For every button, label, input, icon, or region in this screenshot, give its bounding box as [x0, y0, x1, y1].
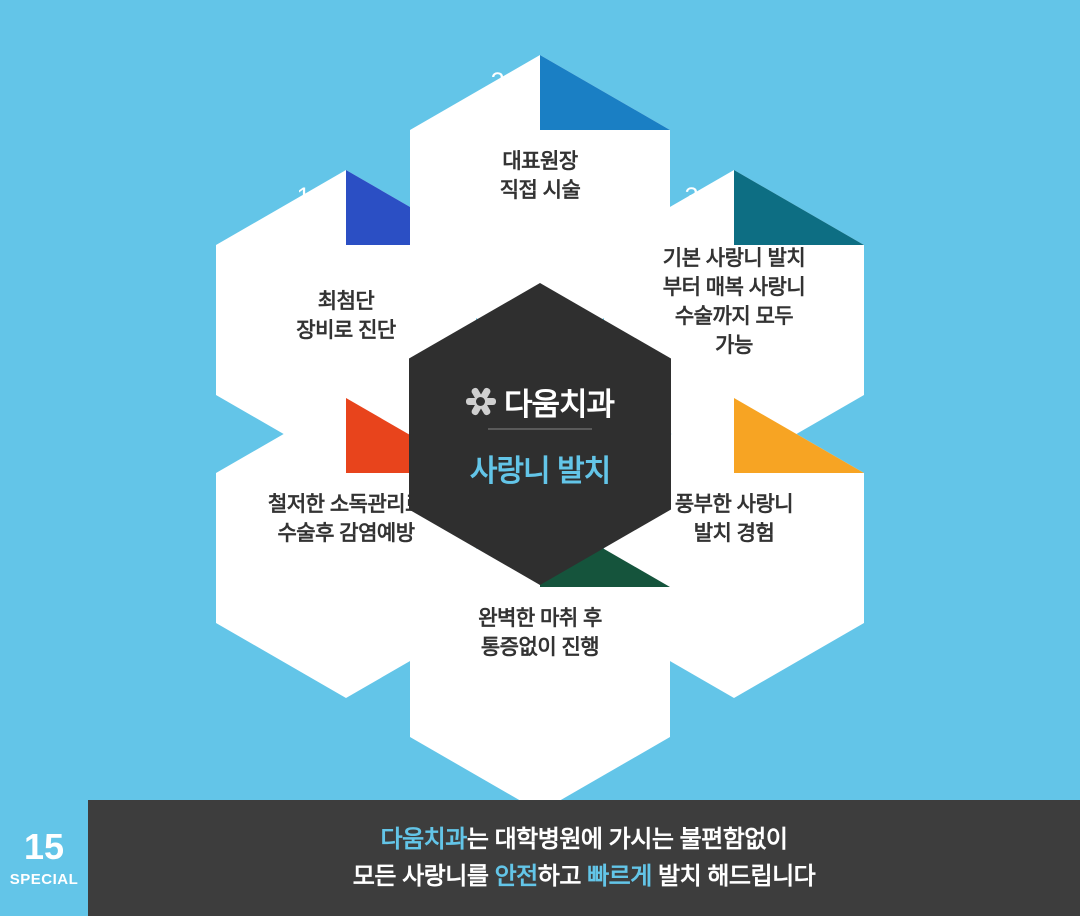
daum-asterisk-logo-icon: [466, 387, 496, 417]
hexagon-2-number: 2: [478, 70, 518, 95]
footer-line-2: 모든 사랑니를 안전하고 빠르게 발치 해드립니다: [353, 858, 815, 895]
footer-line-2-safe: 안전: [495, 863, 538, 890]
footer-line-1-brand: 다움치과: [381, 826, 467, 853]
special-badge: 15 SPECIAL: [0, 800, 88, 916]
hexagon-4-number: 4: [672, 413, 712, 438]
center-subtitle: 사랑니 발치: [409, 446, 671, 490]
footer-bar: 15 SPECIAL 다움치과는 대학병원에 가시는 불편함없이 모든 사랑니를…: [0, 800, 1080, 916]
hexagon-cluster: 1 최첨단 장비로 진단 2 대표원장 직접 시술 3 기본 사랑니 발치 부터…: [0, 0, 1080, 800]
footer-line-2-e: 발치 해드립니다: [652, 863, 815, 890]
hexagon-3-label-line1: 기본 사랑니 발치: [604, 245, 864, 274]
infographic-slide: 1 최첨단 장비로 진단 2 대표원장 직접 시술 3 기본 사랑니 발치 부터…: [0, 0, 1080, 916]
hexagon-1-number: 1: [284, 185, 324, 210]
center-hexagon: 다움치과 사랑니 발치: [409, 283, 671, 585]
footer-line-1: 다움치과는 대학병원에 가시는 불편함없이: [381, 821, 788, 858]
hexagon-3-number: 3: [672, 185, 712, 210]
hexagon-6-number: 6: [284, 413, 324, 438]
footer-line-2-a: 모든 사랑니를: [353, 863, 495, 890]
center-divider: [488, 428, 592, 430]
footer-line-2-fast: 빠르게: [587, 863, 652, 890]
brand-name: 다움치과: [504, 379, 614, 424]
brand-lockup: 다움치과: [409, 379, 671, 424]
special-badge-word: SPECIAL: [10, 871, 79, 888]
footer-text: 다움치과는 대학병원에 가시는 불편함없이 모든 사랑니를 안전하고 빠르게 발…: [88, 800, 1080, 916]
center-hexagon-shape: [409, 283, 671, 585]
special-badge-number: 15: [24, 829, 64, 865]
footer-line-1-rest: 는 대학병원에 가시는 불편함없이: [467, 826, 788, 853]
footer-line-2-c: 하고: [538, 863, 587, 890]
